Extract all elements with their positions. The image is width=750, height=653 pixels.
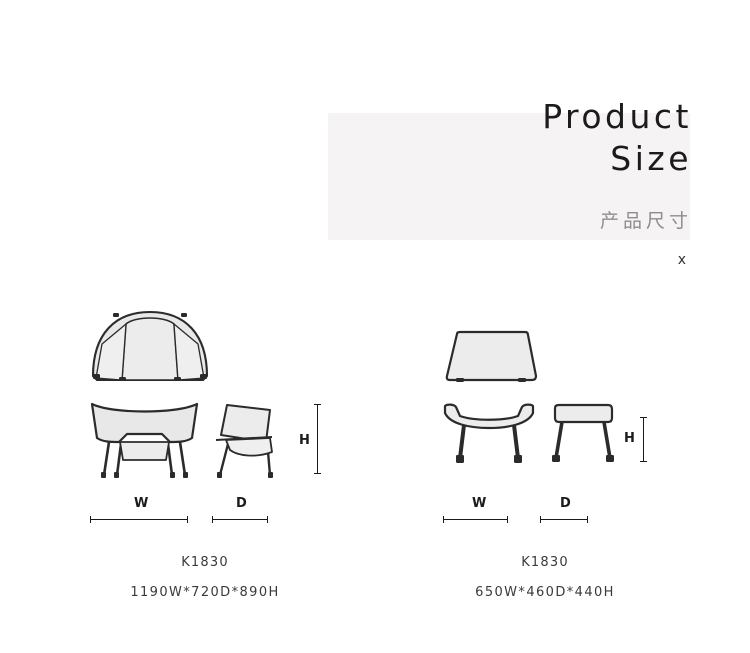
product-size-page: Product Size 产品尺寸 x [0, 0, 750, 653]
page-title-line-1: Product [300, 96, 692, 138]
chair-dimensions-caption: 1190W*720D*890H [60, 585, 350, 600]
chair-height-label: H [299, 433, 310, 448]
stool-views: H [420, 300, 670, 485]
stool-width-line [443, 516, 508, 523]
chair-side-view [208, 398, 286, 480]
stool-depth-line [540, 516, 588, 523]
stool-front-view [440, 400, 538, 470]
stool-side-view [548, 400, 620, 470]
chair-views: H [60, 300, 350, 485]
chair-model-caption: K1830 [60, 555, 350, 570]
chair-front-view [82, 398, 207, 480]
stool-depth-label: D [560, 496, 571, 511]
product-block-chair: H W D K1830 1190W*720D*890H [60, 300, 350, 620]
stool-height-label: H [624, 431, 635, 446]
chair-top-view [85, 304, 215, 389]
stool-width-label: W [472, 496, 487, 511]
stool-top-view [440, 328, 545, 386]
page-title-line-2: Size [300, 138, 692, 180]
product-block-stool: H W D K1830 650W*460D*440H [420, 300, 670, 620]
chair-width-line [90, 516, 188, 523]
chair-height-line [314, 404, 321, 474]
page-subtitle-chinese: 产品尺寸 [300, 206, 692, 233]
chair-width-label: W [134, 496, 149, 511]
chair-depth-label: D [236, 496, 247, 511]
close-icon[interactable]: x [300, 252, 686, 268]
header-title: Product Size [300, 96, 692, 180]
stool-model-caption: K1830 [420, 555, 670, 570]
stool-height-line [640, 417, 647, 462]
stool-dimensions-caption: 650W*460D*440H [420, 585, 670, 600]
chair-depth-line [212, 516, 268, 523]
